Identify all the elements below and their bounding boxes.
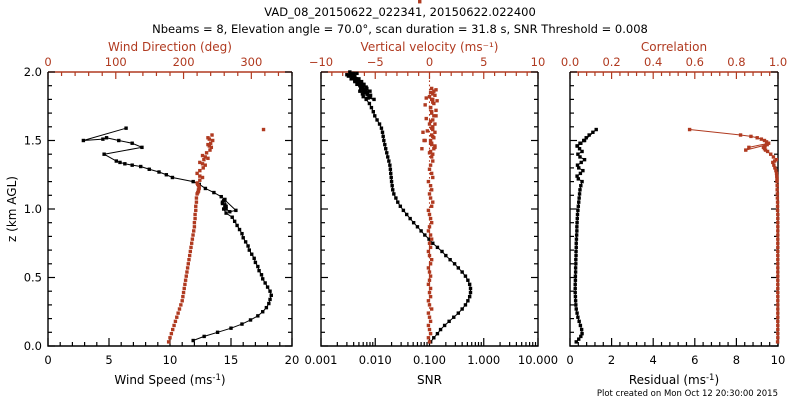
- data-point: [394, 196, 397, 199]
- data-point: [429, 196, 432, 199]
- data-point: [776, 229, 779, 232]
- figure-root: VAD_08_20150622_022341, 20150622.022400 …: [0, 0, 800, 400]
- data-point: [430, 205, 433, 208]
- bottom-tick-label: 6: [691, 353, 698, 367]
- data-point: [423, 103, 426, 106]
- data-point: [578, 142, 581, 145]
- top-tick-label: 0.4: [644, 55, 662, 69]
- data-point: [261, 277, 264, 280]
- bottom-axis-label: Residual (ms-1): [629, 373, 719, 387]
- data-point: [466, 299, 469, 302]
- data-point: [574, 262, 577, 265]
- data-point: [428, 328, 431, 331]
- bottom-axis-label: Wind Speed (ms-1): [114, 373, 225, 387]
- data-point: [267, 302, 270, 305]
- data-point: [427, 229, 430, 232]
- data-point: [418, 0, 421, 3]
- data-point: [775, 158, 778, 161]
- data-point: [139, 165, 142, 168]
- data-point: [124, 126, 127, 129]
- bottom-tick-label: 2: [608, 353, 615, 367]
- data-point: [181, 295, 184, 298]
- data-point: [223, 198, 226, 201]
- data-point: [191, 180, 194, 183]
- top-tick-label: 200: [173, 55, 195, 69]
- data-point: [776, 307, 779, 310]
- data-point: [776, 254, 779, 257]
- data-point: [452, 316, 455, 319]
- data-point: [184, 279, 187, 282]
- data-point: [148, 168, 151, 171]
- data-point: [265, 306, 268, 309]
- top-tick-label: 100: [105, 55, 127, 69]
- data-point: [576, 163, 579, 166]
- data-point: [240, 322, 243, 325]
- data-point: [460, 307, 463, 310]
- data-point: [428, 340, 431, 343]
- data-point: [390, 184, 393, 187]
- bottom-tick-label: 1.000: [467, 353, 500, 367]
- plot-timestamp: Plot created on Mon Oct 12 20:30:00 2015: [597, 389, 778, 399]
- data-point: [447, 320, 450, 323]
- data-point: [176, 311, 179, 314]
- data-point: [396, 200, 399, 203]
- bottom-tick-label: 20: [285, 353, 300, 367]
- data-point: [430, 258, 433, 261]
- data-point: [574, 299, 577, 302]
- data-point: [252, 257, 255, 260]
- bottom-tick-label: 10: [771, 353, 786, 367]
- data-point: [240, 232, 243, 235]
- data-point: [430, 307, 433, 310]
- bottom-tick-label: 4: [650, 353, 657, 367]
- data-point: [421, 131, 424, 134]
- data-point: [574, 283, 577, 286]
- data-point: [776, 287, 779, 290]
- vad-profile-figure: VAD_08_20150622_022341, 20150622.022400 …: [0, 0, 800, 400]
- data-point: [574, 250, 577, 253]
- data-point: [575, 307, 578, 310]
- data-point: [345, 73, 348, 76]
- bottom-tick-label: 5: [105, 353, 112, 367]
- data-point: [760, 137, 763, 140]
- data-point: [429, 163, 432, 166]
- data-point: [776, 283, 779, 286]
- data-point: [776, 303, 779, 306]
- data-point: [372, 98, 375, 101]
- data-point: [776, 237, 779, 240]
- data-point: [105, 136, 108, 139]
- y-tick-label: 2.0: [24, 65, 42, 79]
- data-point: [370, 106, 373, 109]
- data-point: [428, 303, 431, 306]
- data-point: [429, 262, 432, 265]
- data-point: [260, 273, 263, 276]
- data-point: [206, 136, 209, 139]
- data-point: [469, 291, 472, 294]
- data-point: [430, 87, 433, 90]
- data-point: [429, 106, 432, 109]
- data-point: [115, 159, 118, 162]
- data-point: [769, 153, 772, 156]
- data-point: [453, 262, 456, 265]
- data-point: [194, 209, 197, 212]
- data-point: [428, 168, 431, 171]
- data-point: [420, 147, 423, 150]
- data-point: [574, 279, 577, 282]
- data-point: [165, 173, 168, 176]
- data-point: [776, 291, 779, 294]
- data-point: [430, 111, 433, 114]
- data-point: [185, 274, 188, 277]
- data-point: [431, 176, 434, 179]
- data-point: [383, 143, 386, 146]
- data-point: [434, 88, 437, 91]
- bottom-tick-label: 15: [224, 353, 239, 367]
- y-tick-label: 1.5: [24, 134, 42, 148]
- data-point: [428, 213, 431, 216]
- data-point: [389, 168, 392, 171]
- data-point: [130, 163, 133, 166]
- data-point: [776, 262, 779, 265]
- bottom-tick-label: 0.100: [413, 353, 446, 367]
- data-point: [392, 192, 395, 195]
- data-point: [187, 262, 190, 265]
- data-point: [440, 250, 443, 253]
- data-point: [130, 142, 133, 145]
- data-point: [429, 246, 432, 249]
- data-point: [744, 148, 747, 151]
- data-point: [384, 147, 387, 150]
- data-point: [216, 331, 219, 334]
- data-point: [576, 213, 579, 216]
- data-point: [183, 287, 186, 290]
- data-point: [749, 135, 752, 138]
- data-point: [193, 217, 196, 220]
- data-point: [574, 270, 577, 273]
- data-point: [261, 310, 264, 313]
- data-point: [246, 244, 249, 247]
- top-tick-label: −5: [367, 55, 384, 69]
- data-point: [385, 151, 388, 154]
- data-point: [268, 290, 271, 293]
- data-point: [577, 200, 580, 203]
- data-point: [431, 200, 434, 203]
- data-point: [193, 213, 196, 216]
- data-point: [776, 336, 779, 339]
- data-point: [201, 154, 204, 157]
- data-point: [181, 299, 184, 302]
- top-tick-label: 10: [531, 55, 546, 69]
- data-point: [387, 159, 390, 162]
- data-point: [574, 258, 577, 261]
- data-point: [430, 142, 433, 145]
- data-point: [266, 285, 269, 288]
- top-tick-label: 5: [480, 55, 487, 69]
- data-point: [123, 162, 126, 165]
- data-point: [190, 242, 193, 245]
- data-point: [580, 180, 583, 183]
- data-point: [390, 176, 393, 179]
- data-point: [428, 291, 431, 294]
- data-point: [375, 118, 378, 121]
- data-point: [468, 295, 471, 298]
- data-point: [167, 340, 170, 343]
- y-axis-label: z (km AGL): [5, 176, 19, 242]
- data-point: [427, 180, 430, 183]
- data-point: [435, 99, 438, 102]
- data-point: [171, 328, 174, 331]
- data-point: [382, 139, 385, 142]
- data-point: [574, 266, 577, 269]
- data-point: [429, 274, 432, 277]
- data-point: [378, 122, 381, 125]
- data-point: [231, 216, 234, 219]
- data-point: [426, 129, 429, 132]
- data-point: [574, 303, 577, 306]
- data-point: [739, 133, 742, 136]
- data-point: [402, 209, 405, 212]
- data-point: [776, 221, 779, 224]
- data-point: [776, 217, 779, 220]
- data-point: [423, 139, 426, 142]
- top-axis-label: Wind Direction (deg): [108, 40, 232, 54]
- data-point: [575, 225, 578, 228]
- data-point: [776, 233, 779, 236]
- bottom-tick-label: 0: [566, 353, 573, 367]
- data-point: [763, 139, 766, 142]
- data-point: [576, 209, 579, 212]
- data-point: [468, 283, 471, 286]
- data-point: [193, 221, 196, 224]
- data-point: [386, 155, 389, 158]
- y-tick-label: 0.5: [24, 271, 42, 285]
- data-point: [429, 91, 432, 94]
- data-point: [248, 248, 251, 251]
- data-point: [776, 213, 779, 216]
- data-point: [776, 192, 779, 195]
- data-point: [193, 225, 196, 228]
- data-point: [587, 133, 590, 136]
- data-point: [776, 320, 779, 323]
- data-point: [183, 283, 186, 286]
- data-point: [263, 281, 266, 284]
- data-point: [688, 128, 691, 131]
- data-point: [256, 265, 259, 268]
- data-point: [430, 98, 433, 101]
- data-point: [233, 220, 236, 223]
- data-point: [381, 131, 384, 134]
- top-tick-label: 0.2: [602, 55, 620, 69]
- data-point: [776, 200, 779, 203]
- data-point: [430, 172, 433, 175]
- data-point: [244, 240, 247, 243]
- data-point: [250, 253, 253, 256]
- data-point: [257, 269, 260, 272]
- data-point: [427, 336, 430, 339]
- data-point: [430, 133, 433, 136]
- data-point: [191, 233, 194, 236]
- data-point: [427, 283, 430, 286]
- data-point: [574, 254, 577, 257]
- data-point: [368, 102, 371, 105]
- data-point: [430, 188, 433, 191]
- data-point: [776, 279, 779, 282]
- data-point: [185, 270, 188, 273]
- data-point: [210, 133, 213, 136]
- data-point: [575, 233, 578, 236]
- data-point: [175, 316, 178, 319]
- data-point: [575, 221, 578, 224]
- data-point: [234, 209, 237, 212]
- data-point: [204, 187, 207, 190]
- data-point: [576, 217, 579, 220]
- data-point: [776, 316, 779, 319]
- data-point: [428, 225, 431, 228]
- data-point: [776, 340, 779, 343]
- data-point: [577, 196, 580, 199]
- data-point: [578, 188, 581, 191]
- data-point: [747, 146, 750, 149]
- data-point: [389, 172, 392, 175]
- data-point: [466, 279, 469, 282]
- bottom-tick-label: 0.001: [305, 353, 338, 367]
- data-point: [268, 298, 271, 301]
- data-point: [577, 320, 580, 323]
- data-point: [433, 122, 436, 125]
- data-point: [391, 188, 394, 191]
- data-point: [574, 287, 577, 290]
- data-point: [575, 144, 578, 147]
- data-point: [575, 242, 578, 245]
- data-point: [776, 250, 779, 253]
- data-point: [776, 270, 779, 273]
- data-point: [174, 320, 177, 323]
- data-point: [429, 184, 432, 187]
- data-point: [262, 128, 265, 131]
- data-point: [776, 196, 779, 199]
- data-point: [429, 320, 432, 323]
- data-point: [425, 117, 428, 120]
- y-tick-label: 0.0: [24, 339, 42, 353]
- data-point: [433, 144, 436, 147]
- data-point: [574, 295, 577, 298]
- data-point: [369, 94, 372, 97]
- data-point: [186, 266, 189, 269]
- data-point: [380, 126, 383, 129]
- data-point: [428, 192, 431, 195]
- data-point: [427, 324, 430, 327]
- top-tick-label: 0: [44, 55, 51, 69]
- data-point: [464, 274, 467, 277]
- top-tick-label: 0.6: [686, 55, 704, 69]
- data-point: [357, 77, 360, 80]
- data-point: [235, 224, 238, 227]
- data-point: [427, 311, 430, 314]
- data-point: [432, 336, 435, 339]
- data-point: [430, 221, 433, 224]
- data-point: [427, 250, 430, 253]
- top-tick-label: 1.0: [769, 55, 787, 69]
- data-point: [427, 299, 430, 302]
- data-point: [428, 270, 431, 273]
- data-point: [352, 72, 355, 75]
- data-point: [443, 324, 446, 327]
- data-point: [202, 335, 205, 338]
- data-point: [157, 170, 160, 173]
- data-point: [579, 324, 582, 327]
- data-point: [220, 195, 223, 198]
- data-point: [448, 258, 451, 261]
- data-point: [575, 246, 578, 249]
- data-point: [457, 311, 460, 314]
- data-point: [583, 158, 586, 161]
- data-point: [249, 318, 252, 321]
- data-point: [427, 209, 430, 212]
- figure-title: VAD_08_20150622_022341, 20150622.022400: [264, 5, 536, 19]
- data-point: [195, 196, 198, 199]
- data-point: [270, 294, 273, 297]
- data-point: [776, 328, 779, 331]
- figure-subtitle: Nbeams = 8, Elevation angle = 70.0°, sca…: [152, 22, 648, 36]
- data-point: [775, 188, 778, 191]
- data-point: [368, 89, 371, 92]
- data-point: [580, 332, 583, 335]
- data-point: [192, 229, 195, 232]
- data-point: [436, 246, 439, 249]
- data-point: [211, 139, 214, 142]
- data-point: [439, 328, 442, 331]
- bottom-axis-label: SNR: [417, 373, 442, 387]
- data-point: [430, 237, 433, 240]
- data-point: [101, 137, 104, 140]
- data-point: [576, 316, 579, 319]
- y-tick-label: 1.0: [24, 202, 42, 216]
- data-point: [429, 233, 432, 236]
- data-point: [189, 246, 192, 249]
- data-point: [408, 217, 411, 220]
- data-point: [457, 266, 460, 269]
- data-point: [776, 324, 779, 327]
- data-point: [578, 192, 581, 195]
- data-point: [229, 326, 232, 329]
- data-point: [428, 279, 431, 282]
- bottom-tick-label: 10: [163, 353, 178, 367]
- bottom-tick-label: 0: [44, 353, 51, 367]
- top-tick-label: 0.0: [561, 55, 579, 69]
- data-point: [775, 184, 778, 187]
- data-point: [195, 200, 198, 203]
- data-point: [776, 299, 779, 302]
- data-point: [776, 274, 779, 277]
- data-point: [776, 242, 779, 245]
- data-point: [580, 328, 583, 331]
- data-point: [178, 307, 181, 310]
- data-point: [776, 258, 779, 261]
- data-point: [776, 332, 779, 335]
- data-point: [388, 163, 391, 166]
- data-point: [254, 261, 257, 264]
- data-point: [224, 207, 227, 210]
- data-point: [464, 303, 467, 306]
- data-point: [428, 316, 431, 319]
- data-point: [212, 191, 215, 194]
- data-point: [182, 291, 185, 294]
- data-point: [428, 242, 431, 245]
- data-point: [776, 205, 779, 208]
- data-point: [776, 209, 779, 212]
- data-point: [242, 236, 245, 239]
